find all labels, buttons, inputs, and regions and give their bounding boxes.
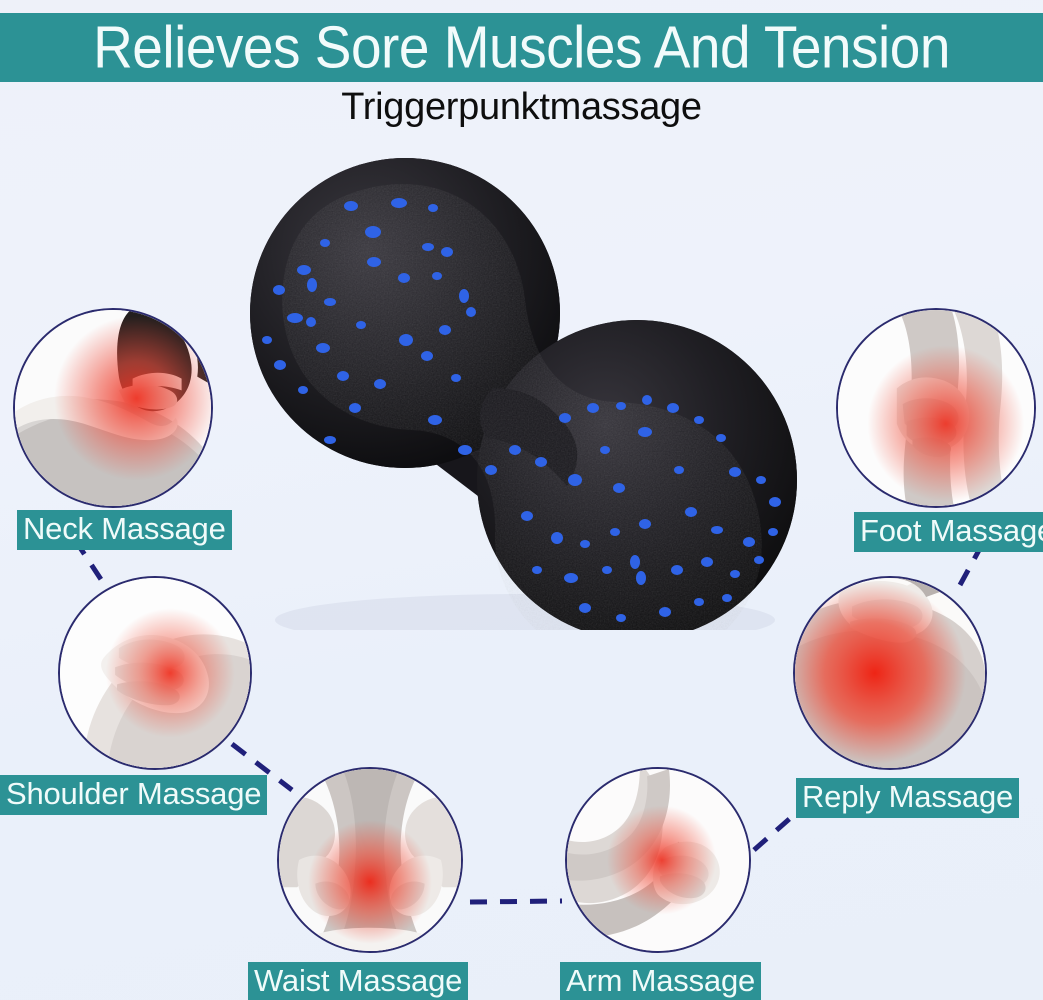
label-neck-text: Neck Massage — [23, 511, 226, 546]
subtitle: Triggerpunktmassage — [0, 88, 1043, 128]
product-infographic: Relieves Sore Muscles And Tension Trigge… — [0, 0, 1043, 1000]
connector-waist-arm — [470, 901, 562, 902]
label-reply: Reply Massage — [796, 778, 1019, 818]
thumbnail-waist[interactable] — [277, 767, 463, 953]
thumbnail-neck[interactable] — [13, 308, 213, 508]
label-foot-text: Foot Massage — [860, 513, 1043, 548]
label-shoulder: Shoulder Massage — [0, 775, 267, 815]
arm-massage-photo — [567, 769, 749, 951]
thumbnail-arm[interactable] — [565, 767, 751, 953]
headline-band: Relieves Sore Muscles And Tension — [0, 13, 1043, 82]
label-waist: Waist Massage — [248, 962, 468, 1000]
thumbnail-reply[interactable] — [793, 576, 987, 770]
foot-massage-photo — [838, 310, 1034, 506]
label-foot: Foot Massage — [854, 512, 1043, 552]
reply-massage-photo — [795, 578, 985, 768]
label-arm: Arm Massage — [560, 962, 761, 1000]
page-title: Relieves Sore Muscles And Tension — [93, 18, 950, 77]
product-image — [175, 150, 865, 630]
label-waist-text: Waist Massage — [254, 963, 462, 998]
shoulder-massage-photo — [60, 578, 250, 768]
label-shoulder-text: Shoulder Massage — [6, 776, 261, 811]
neck-massage-photo — [15, 310, 211, 506]
waist-massage-photo — [279, 769, 461, 951]
label-neck: Neck Massage — [17, 510, 232, 550]
thumbnail-foot[interactable] — [836, 308, 1036, 508]
label-arm-text: Arm Massage — [566, 963, 755, 998]
label-reply-text: Reply Massage — [802, 779, 1013, 814]
thumbnail-shoulder[interactable] — [58, 576, 252, 770]
